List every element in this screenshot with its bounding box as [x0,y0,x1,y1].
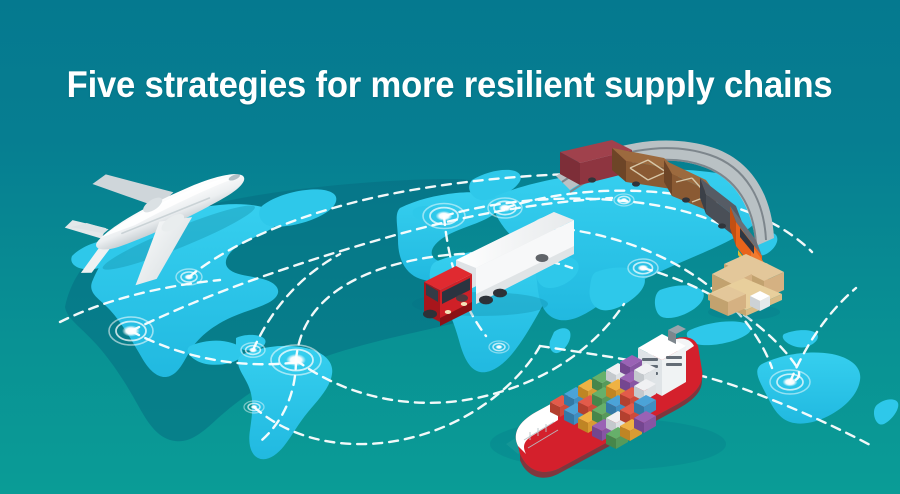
truck-headlight [445,310,451,314]
airplane-icon [50,127,267,305]
banner-canvas: Five strategies for more resilient suppl… [0,0,900,494]
truck-cab-wheel [423,310,437,319]
truck-icon [412,212,574,326]
truck-headlight [461,302,467,306]
pallet-icon [708,254,784,320]
truck-cab-wheel [456,294,468,302]
truck-trailer-wheel [479,296,493,305]
container-ship-icon [490,325,726,478]
truck-trailer-wheel [493,289,507,298]
truck-trailer-wheel [536,254,549,262]
transport-illustrations [0,0,900,494]
